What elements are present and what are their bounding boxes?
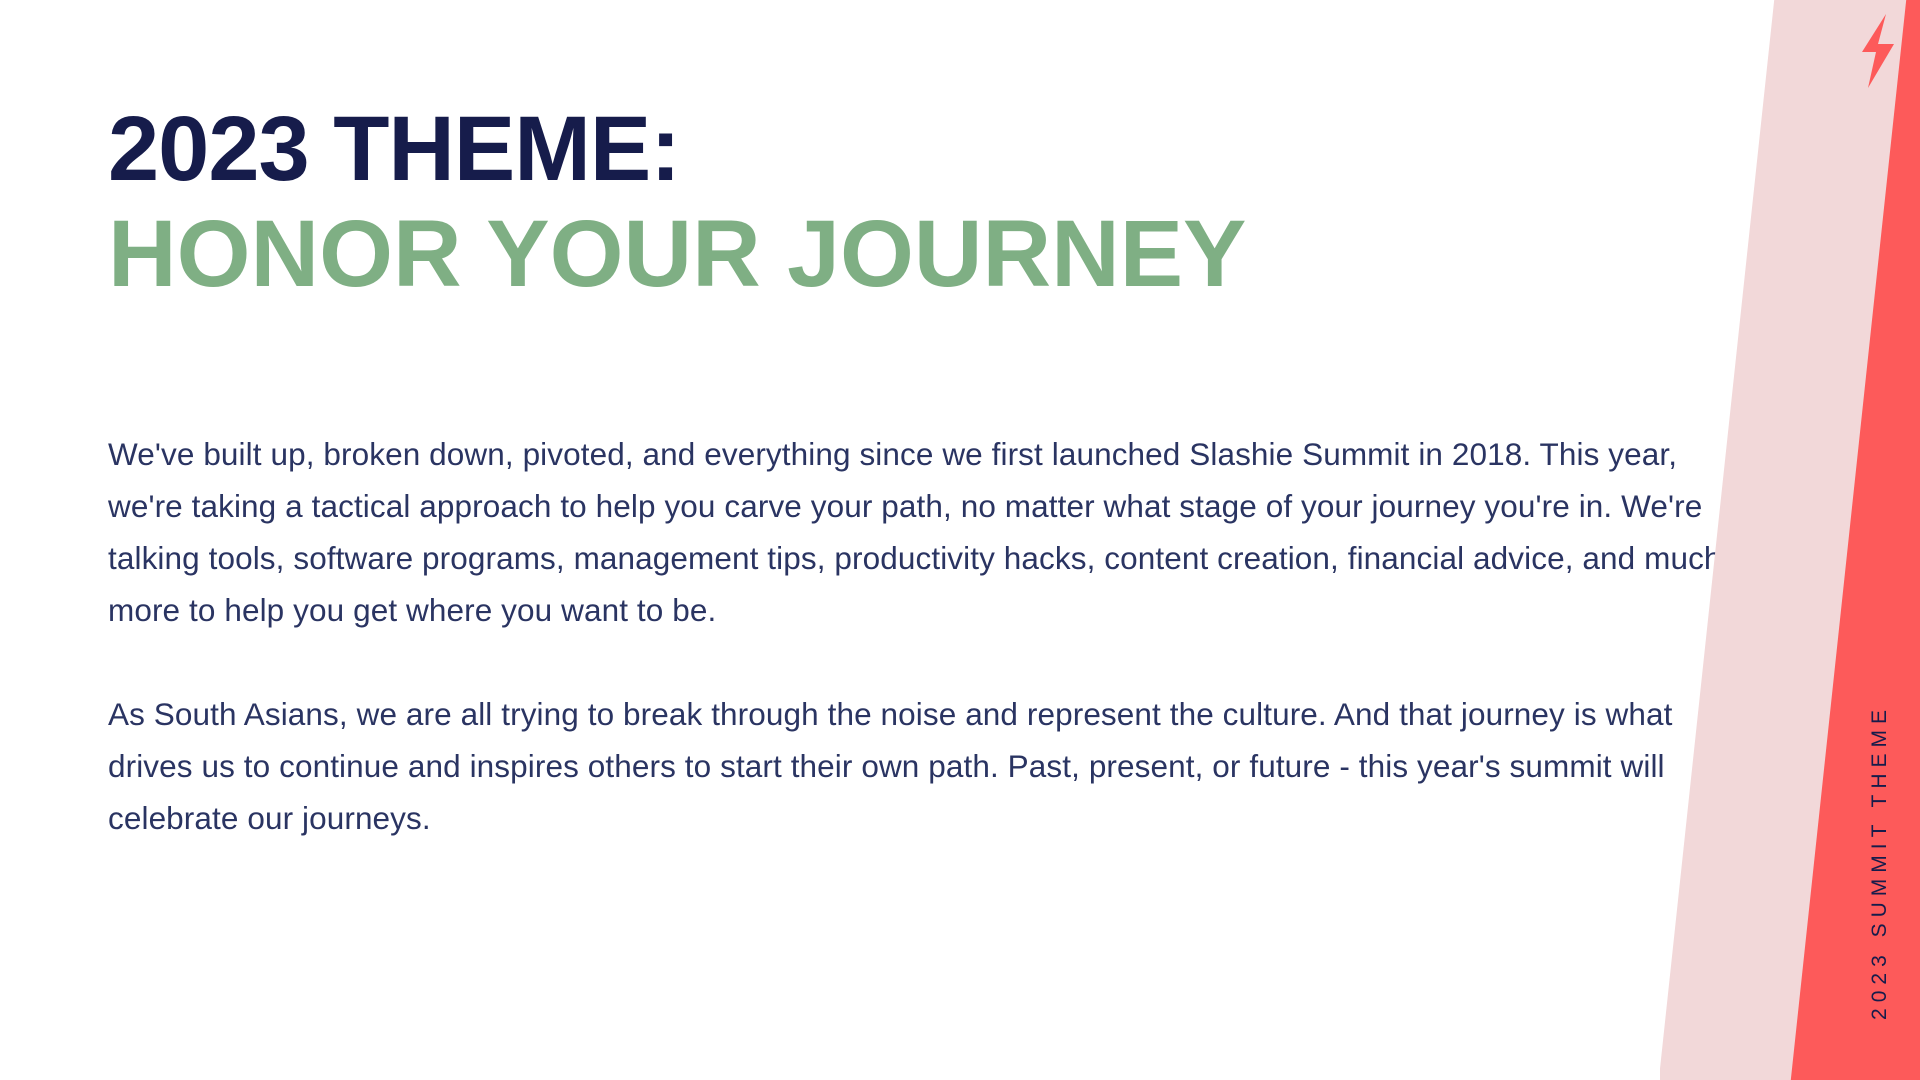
- slide-canvas: 2023 THEME: HONOR YOUR JOURNEY We've bui…: [0, 0, 1920, 1080]
- body-copy: We've built up, broken down, pivoted, an…: [108, 428, 1748, 844]
- paragraph-2: As South Asians, we are all trying to br…: [108, 688, 1738, 844]
- side-label-summit-theme: 2023 SUMMIT THEME: [1868, 704, 1892, 1020]
- slide-heading-group: 2023 THEME: HONOR YOUR JOURNEY: [108, 98, 1608, 307]
- lightning-bolt-icon: [1856, 14, 1900, 88]
- page-title-line-1: 2023 THEME:: [108, 98, 1608, 201]
- page-title-line-2: HONOR YOUR JOURNEY: [108, 201, 1608, 307]
- coral-band: [1786, 0, 1920, 1080]
- paragraph-1: We've built up, broken down, pivoted, an…: [108, 428, 1748, 636]
